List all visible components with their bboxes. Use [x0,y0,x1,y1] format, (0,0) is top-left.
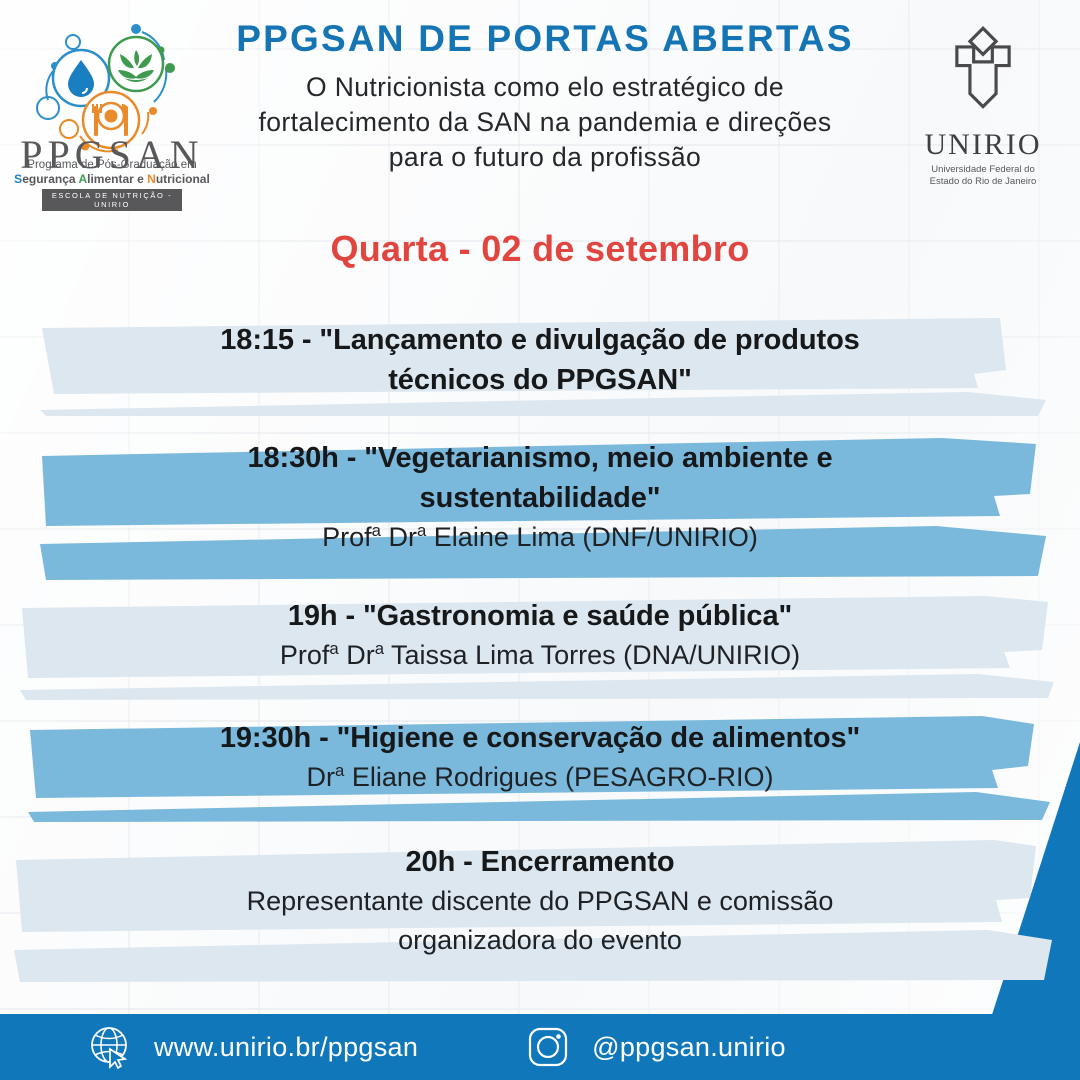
instagram-icon [526,1025,570,1069]
ppgsan-school-ribbon: ESCOLA DE NUTRIÇÃO - UNIRIO [42,189,182,211]
website-link[interactable]: www.unirio.br/ppgsan [88,1024,418,1070]
globe-cursor-icon [88,1024,134,1070]
unirio-subtitle: Universidade Federal do Estado do Rio de… [930,164,1037,188]
unirio-wordmark: UNIRIO [925,128,1042,162]
speaker-prefix: Prof [322,522,372,552]
schedule-item-4: 19:30h - "Higiene e conservação de alime… [0,706,1080,828]
poster-title: PPGSAN DE PORTAS ABERTAS [200,18,890,60]
speaker-name: Elaine Lima (DNF/UNIRIO) [426,522,758,552]
schedule-item-4-title: 19:30h - "Higiene e conservação de alime… [0,718,1080,758]
schedule-item-1: 18:15 - "Lançamento e divulgação de prod… [0,306,1080,424]
poster-footer: www.unirio.br/ppgsan @ppgsan.unirio [0,1014,1080,1080]
unirio-subtitle-line2: Estado do Rio de Janeiro [930,176,1037,188]
speaker-prefix: Dr [307,762,336,792]
subtitle-line-3: para o futuro da profissão [200,140,890,175]
schedule-item-2-speaker: Profa Dra Elaine Lima (DNF/UNIRIO) [0,518,1080,557]
speaker-ordinal-2: a [375,639,384,658]
instagram-link[interactable]: @ppgsan.unirio [526,1025,786,1069]
speaker-middle: Dr [339,640,375,670]
poster-header: PPGSAN Programa de Pós-Graduação em Segu… [0,0,1080,200]
unirio-logo: UNIRIO Universidade Federal do Estado do… [908,22,1058,192]
schedule-item-2: 18:30h - "Vegetarianismo, meio ambiente … [0,424,1080,584]
schedule-item-5-speaker-line1: Representante discente do PPGSAN e comis… [0,882,1080,921]
speaker-ordinal-1: a [335,761,344,780]
ppgsan-tagline-line2: Segurança Alimentar e Nutricional [14,172,210,187]
schedule-item-5-speaker-line2: organizadora do evento [0,921,1080,960]
schedule-item-5-title: 20h - Encerramento [0,842,1080,882]
ppgsan-tagline-line1: Programa de Pós-Graduação em [14,158,210,172]
schedule-item-3-title: 19h - "Gastronomia e saúde pública" [0,596,1080,636]
speaker-middle: Dr [381,522,417,552]
schedule-item-3-speaker: Profa Dra Taissa Lima Torres (DNA/UNIRIO… [0,636,1080,675]
speaker-ordinal-1: a [372,521,381,540]
unirio-emblem-icon [927,22,1039,126]
schedule-item-2-title-line2: sustentabilidade" [0,478,1080,518]
schedule-item-1-text: 18:15 - "Lançamento e divulgação de prod… [0,306,1080,400]
schedule-item-4-speaker: Dra Eliane Rodrigues (PESAGRO-RIO) [0,758,1080,797]
ppgsan-logo: PPGSAN Programa de Pós-Graduação em Segu… [14,16,210,196]
schedule-item-3-text: 19h - "Gastronomia e saúde pública" Prof… [0,584,1080,675]
schedule-list: 18:15 - "Lançamento e divulgação de prod… [0,306,1080,988]
speaker-name: Eliane Rodrigues (PESAGRO-RIO) [344,762,773,792]
website-label: www.unirio.br/ppgsan [154,1032,418,1063]
speaker-prefix: Prof [280,640,330,670]
schedule-item-2-text: 18:30h - "Vegetarianismo, meio ambiente … [0,424,1080,557]
schedule-item-3: 19h - "Gastronomia e saúde pública" Prof… [0,584,1080,706]
poster-subtitle: O Nutricionista como elo estratégico de … [200,70,890,175]
schedule-item-5-text: 20h - Encerramento Representante discent… [0,828,1080,960]
event-date: Quarta - 02 de setembro [0,228,1080,270]
subtitle-line-2: fortalecimento da SAN na pandemia e dire… [200,105,890,140]
event-poster: PPGSAN Programa de Pós-Graduação em Segu… [0,0,1080,1080]
schedule-item-1-title-line1: 18:15 - "Lançamento e divulgação de prod… [0,320,1080,360]
schedule-item-5: 20h - Encerramento Representante discent… [0,828,1080,988]
unirio-subtitle-line1: Universidade Federal do [930,164,1037,176]
speaker-name: Taissa Lima Torres (DNA/UNIRIO) [384,640,800,670]
instagram-label: @ppgsan.unirio [592,1032,786,1063]
schedule-item-2-title-line1: 18:30h - "Vegetarianismo, meio ambiente … [0,438,1080,478]
speaker-ordinal-2: a [417,521,426,540]
schedule-item-4-text: 19:30h - "Higiene e conservação de alime… [0,706,1080,797]
speaker-ordinal-1: a [329,639,338,658]
schedule-item-1-title-line2: técnicos do PPGSAN" [0,360,1080,400]
header-text-block: PPGSAN DE PORTAS ABERTAS O Nutricionista… [200,18,890,175]
subtitle-line-1: O Nutricionista como elo estratégico de [200,70,890,105]
